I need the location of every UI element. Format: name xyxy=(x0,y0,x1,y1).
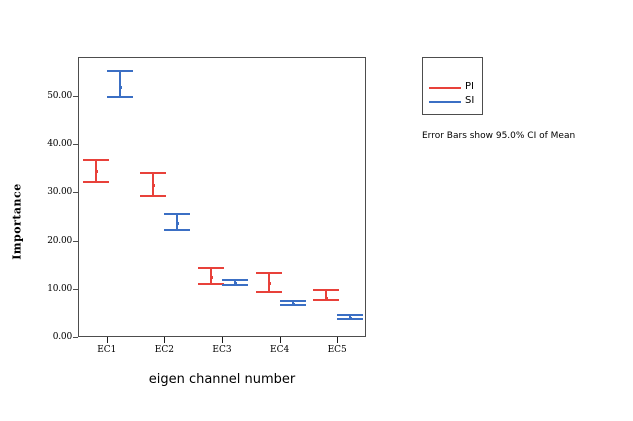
x-tick-label-ec1: EC1 xyxy=(97,345,116,355)
mean-marker xyxy=(268,282,271,285)
error-bar-si-ec1 xyxy=(107,70,133,98)
plot-area xyxy=(78,57,366,337)
error-bar-upper-cap xyxy=(140,172,166,174)
error-bar-lower-cap xyxy=(107,96,133,98)
x-axis-title: eigen channel number xyxy=(78,372,366,387)
mean-marker xyxy=(349,317,352,320)
legend-label: SI xyxy=(465,95,474,106)
y-tick-label: 50.00 xyxy=(47,91,72,101)
mean-marker xyxy=(210,276,213,279)
error-bar-stem xyxy=(119,70,121,98)
legend-swatch-pi xyxy=(429,87,461,89)
y-tick-label: 0.00 xyxy=(53,332,72,342)
error-bar-si-ec2 xyxy=(164,213,190,231)
legend-swatch-si xyxy=(429,101,461,103)
error-bar-pi-ec5 xyxy=(313,289,339,302)
error-bar-upper-cap xyxy=(280,300,306,302)
error-bar-upper-cap xyxy=(198,267,224,269)
y-tick-mark xyxy=(73,96,78,97)
y-tick-mark xyxy=(73,241,78,242)
error-bar-upper-cap xyxy=(313,289,339,291)
y-tick-mark xyxy=(73,289,78,290)
y-tick-mark xyxy=(73,144,78,145)
chart-canvas: 0.0010.0020.0030.0040.0050.00 Importance… xyxy=(0,0,633,421)
x-tick-mark xyxy=(222,337,223,343)
y-tick-mark xyxy=(73,337,78,338)
y-axis-title: Importance xyxy=(11,167,24,277)
mean-marker xyxy=(234,282,237,285)
x-tick-label-ec4: EC4 xyxy=(270,345,289,355)
error-bar-upper-cap xyxy=(256,272,282,274)
error-bar-upper-cap xyxy=(164,213,190,215)
y-tick-label: 10.00 xyxy=(47,284,72,294)
mean-marker xyxy=(95,170,98,173)
error-bar-pi-ec4 xyxy=(256,272,282,293)
mean-marker xyxy=(119,86,122,89)
error-bar-si-ec3 xyxy=(222,279,248,287)
error-bar-si-ec4 xyxy=(280,300,306,306)
error-bar-lower-cap xyxy=(83,181,109,183)
error-bar-pi-ec1 xyxy=(83,159,109,183)
error-bar-si-ec5 xyxy=(337,314,363,319)
x-tick-mark xyxy=(280,337,281,343)
y-tick-label: 20.00 xyxy=(47,236,72,246)
error-bar-lower-cap xyxy=(140,195,166,197)
mean-marker xyxy=(176,222,179,225)
error-bar-upper-cap xyxy=(107,70,133,72)
error-bar-upper-cap xyxy=(222,279,248,281)
x-tick-label-ec5: EC5 xyxy=(328,345,347,355)
mean-marker xyxy=(325,297,328,300)
error-bar-upper-cap xyxy=(83,159,109,161)
error-bar-lower-cap xyxy=(164,229,190,231)
error-bar-lower-cap xyxy=(198,283,224,285)
y-tick-mark xyxy=(73,192,78,193)
legend-label: PI xyxy=(465,81,474,92)
error-bar-pi-ec2 xyxy=(140,172,166,198)
legend-caption: Error Bars show 95.0% CI of Mean xyxy=(422,131,575,141)
legend: PISI xyxy=(422,57,483,115)
x-tick-label-ec3: EC3 xyxy=(212,345,231,355)
x-tick-label-ec2: EC2 xyxy=(155,345,174,355)
x-tick-mark xyxy=(337,337,338,343)
y-tick-label: 30.00 xyxy=(47,187,72,197)
error-bar-lower-cap xyxy=(256,291,282,293)
mean-marker xyxy=(152,184,155,187)
mean-marker xyxy=(292,303,295,306)
x-tick-mark xyxy=(164,337,165,343)
y-tick-label: 40.00 xyxy=(47,139,72,149)
error-bar-pi-ec3 xyxy=(198,267,224,285)
x-tick-mark xyxy=(107,337,108,343)
